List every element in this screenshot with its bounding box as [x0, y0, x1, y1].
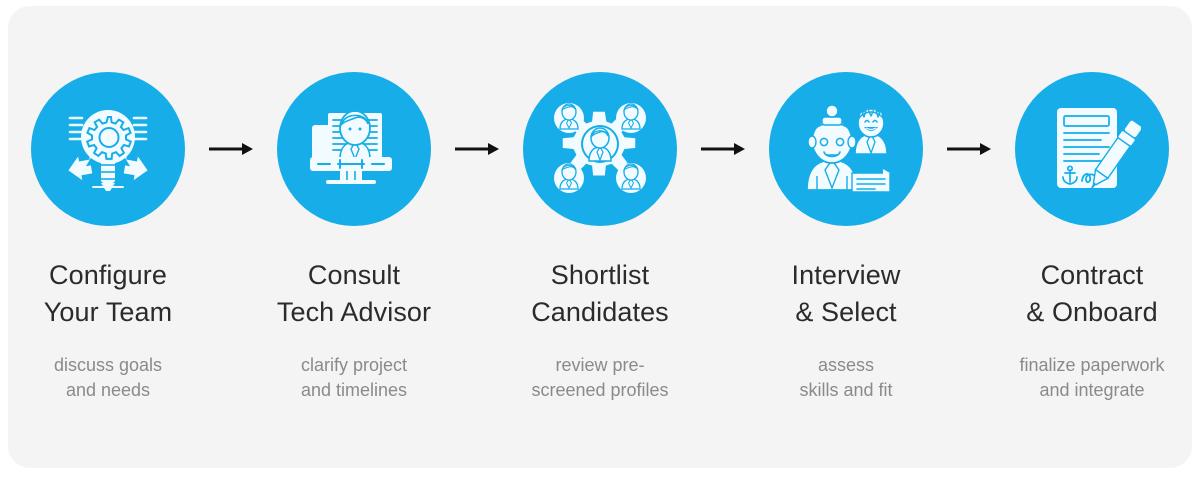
step-icon-badge	[523, 72, 677, 226]
step-title: Configure Your Team	[44, 257, 173, 331]
step-icon-badge	[31, 72, 185, 226]
connector-arrow-4	[946, 72, 992, 226]
step-title: Interview & Select	[792, 257, 901, 331]
process-step-contract-and-onboard[interactable]: Contract & Onboard finalize paperwork an…	[992, 6, 1192, 403]
arrow-right-icon	[700, 141, 746, 157]
step-title: Contract & Onboard	[1026, 257, 1157, 331]
connector-arrow-2	[454, 72, 500, 226]
arrow-right-icon	[454, 141, 500, 157]
arrow-right-icon	[946, 141, 992, 157]
process-step-consult-tech-advisor[interactable]: Consult Tech Advisor clarify project and…	[254, 6, 454, 403]
gear-candidates-network-icon	[549, 98, 651, 200]
connector-arrow-1	[208, 72, 254, 226]
contract-signature-pen-icon	[1043, 100, 1141, 198]
monitor-advisor-icon	[304, 99, 404, 199]
process-flow: Configure Your Team discuss goals and ne…	[8, 6, 1192, 468]
process-step-interview-and-select[interactable]: Interview & Select assess skills and fit	[746, 6, 946, 403]
step-title: Consult Tech Advisor	[277, 257, 431, 331]
step-subtitle: assess skills and fit	[799, 353, 892, 403]
step-icon-badge	[769, 72, 923, 226]
step-title: Shortlist Candidates	[531, 257, 669, 331]
step-subtitle: review pre- screened profiles	[531, 353, 668, 403]
connector-arrow-3	[700, 72, 746, 226]
gear-magnifier-arrows-icon	[60, 101, 156, 197]
process-step-shortlist-candidates[interactable]: Shortlist Candidates review pre- screene…	[500, 6, 700, 403]
arrow-right-icon	[208, 141, 254, 157]
step-subtitle: clarify project and timelines	[301, 353, 407, 403]
step-icon-badge	[1015, 72, 1169, 226]
two-people-interview-icon	[795, 98, 897, 200]
step-subtitle: finalize paperwork and integrate	[1019, 353, 1164, 403]
infographic-canvas: Configure Your Team discuss goals and ne…	[0, 0, 1200, 480]
process-step-configure-your-team[interactable]: Configure Your Team discuss goals and ne…	[8, 6, 208, 403]
step-icon-badge	[277, 72, 431, 226]
step-subtitle: discuss goals and needs	[54, 353, 162, 403]
